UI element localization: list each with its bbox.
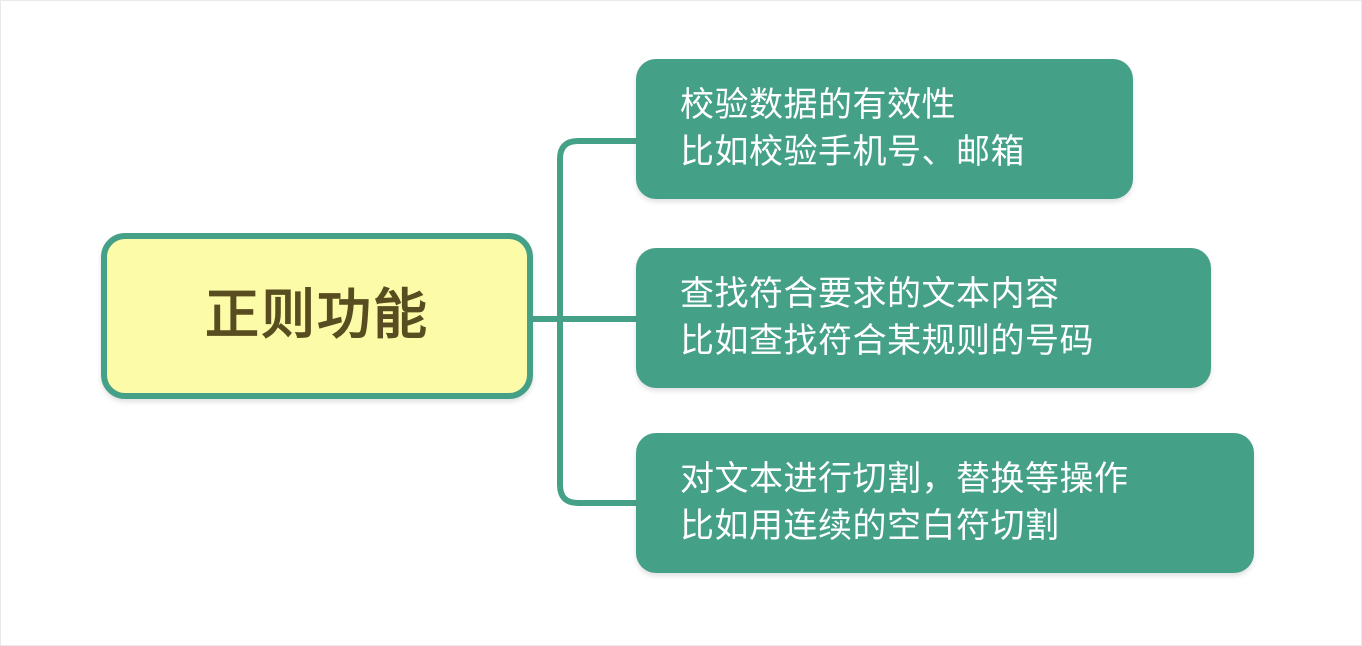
- root-node-label: 正则功能: [205, 286, 429, 345]
- branch-node-line-1: 查找符合要求的文本内容: [680, 271, 1189, 318]
- connector-branch-bottom: [560, 319, 636, 503]
- connector-branch-top: [560, 141, 636, 319]
- branch-node-line-2: 比如查找符合某规则的号码: [680, 318, 1189, 365]
- branch-node-line-2: 比如用连续的空白符切割: [680, 503, 1232, 550]
- branch-node-line-2: 比如校验手机号、邮箱: [680, 129, 1111, 176]
- mindmap-canvas: 正则功能 校验数据的有效性 比如校验手机号、邮箱 查找符合要求的文本内容 比如查…: [0, 0, 1362, 646]
- branch-node-split-replace[interactable]: 对文本进行切割，替换等操作 比如用连续的空白符切割: [636, 433, 1254, 573]
- branch-node-search[interactable]: 查找符合要求的文本内容 比如查找符合某规则的号码: [636, 248, 1211, 388]
- branch-node-line-1: 校验数据的有效性: [680, 82, 1111, 129]
- root-node[interactable]: 正则功能: [101, 233, 533, 399]
- branch-node-validate[interactable]: 校验数据的有效性 比如校验手机号、邮箱: [636, 59, 1133, 199]
- branch-node-line-1: 对文本进行切割，替换等操作: [680, 456, 1232, 503]
